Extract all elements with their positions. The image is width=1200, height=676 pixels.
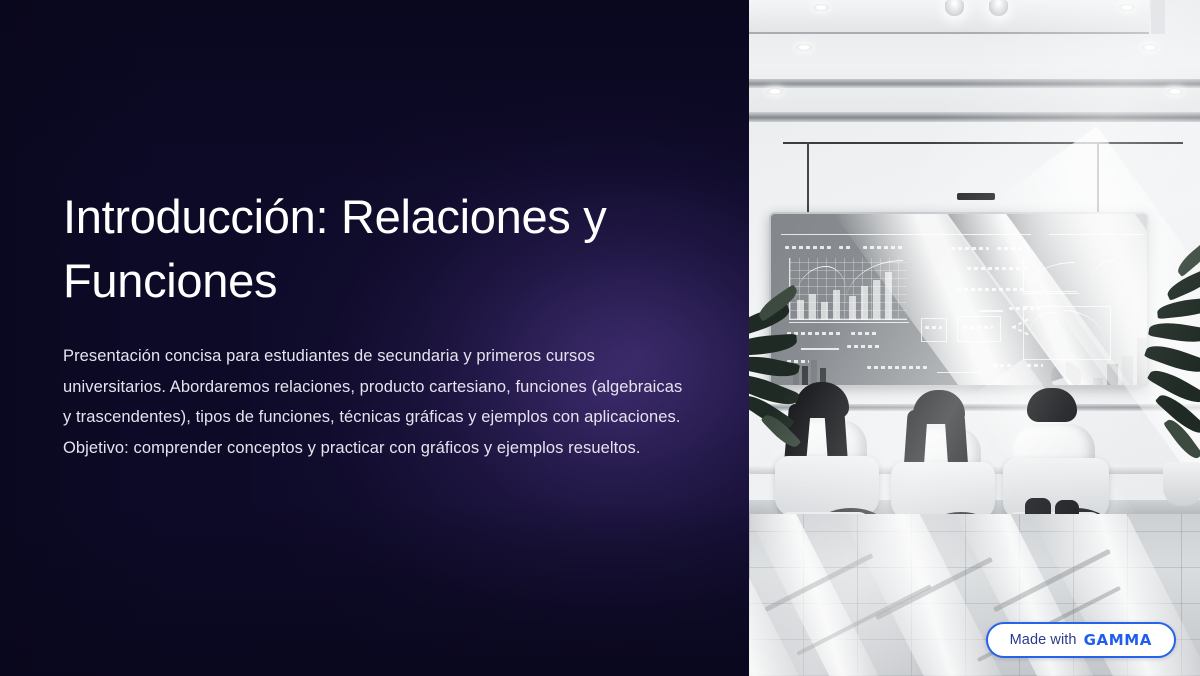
- downlight-6: [1167, 88, 1183, 95]
- downlight-2: [1119, 4, 1135, 11]
- ceiling: [749, 0, 1200, 122]
- slide-text-block: Introducción: Relaciones y Funciones Pre…: [63, 185, 703, 463]
- downlight-4: [1142, 44, 1158, 51]
- downlight-5: [767, 88, 783, 95]
- downlight-3: [796, 44, 812, 51]
- classroom-photo: [749, 0, 1200, 676]
- whiteboard-hanging-rail: [783, 142, 1183, 144]
- downlight-1: [813, 4, 829, 11]
- ceiling-rail-upper: [749, 79, 1200, 88]
- badge-prefix-label: Made with: [1010, 632, 1077, 648]
- presentation-slide: Introducción: Relaciones y Funciones Pre…: [0, 0, 1200, 676]
- made-with-gamma-badge[interactable]: Made with GAMMA: [986, 622, 1176, 658]
- gamma-logo-text: GAMMA: [1084, 631, 1152, 649]
- ceiling-sensor: [957, 193, 995, 200]
- whiteboard-rod-left: [807, 142, 809, 216]
- whiteboard-rod-right: [1097, 142, 1099, 216]
- slide-text-panel: Introducción: Relaciones y Funciones Pre…: [0, 0, 749, 676]
- slide-body-text: Presentación concisa para estudiantes de…: [63, 341, 688, 463]
- whiteboard: [769, 212, 1149, 387]
- page-title: Introducción: Relaciones y Funciones: [63, 185, 703, 313]
